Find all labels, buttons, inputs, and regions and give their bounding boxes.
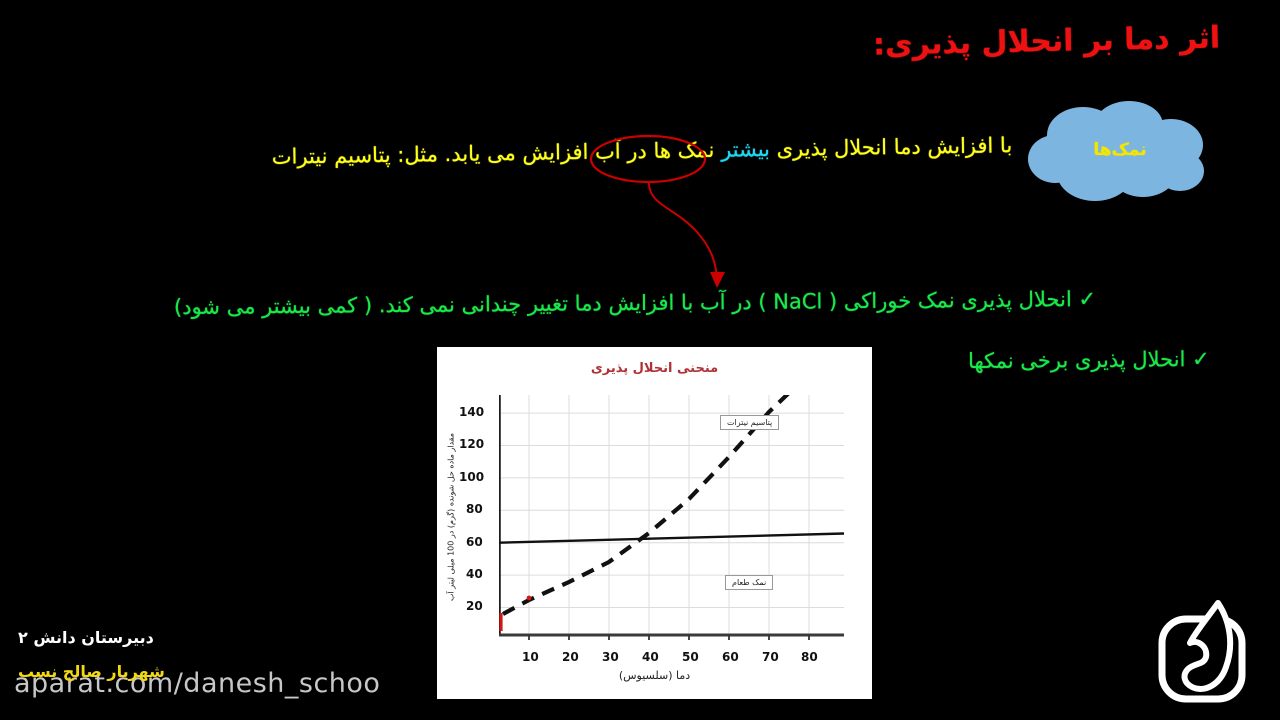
bullet-marker-1: ✓	[1078, 287, 1096, 311]
bullet-text-1: انحلال پذیری نمک خوراکی ( NaCl ) در آب ب…	[174, 287, 1072, 319]
chart-xtick-40: 40	[642, 650, 659, 664]
chart-ytick-80: 80	[466, 502, 483, 516]
chart-xtick-50: 50	[682, 650, 699, 664]
yellow-note-part-right: با افزایش دما انحلال پذیری	[776, 133, 1012, 161]
aparat-logo-icon	[1148, 595, 1258, 710]
page-title: اثر دما بر انحلال پذیری:	[873, 20, 1221, 62]
bullet-marker-2: ✓	[1192, 347, 1210, 371]
bullet-line-2: ✓ انحلال پذیری برخی نمکها	[968, 347, 1210, 373]
yellow-note-part-mid: نمک ها	[653, 138, 714, 163]
bullet-text-2: انحلال پذیری برخی نمکها	[968, 347, 1186, 373]
chart-xtick-10: 10	[522, 650, 539, 664]
yellow-note-part-left: در آب افزایش می یابد. مثل: پتاسیم نیترات	[272, 139, 647, 169]
chart-xtick-20: 20	[562, 650, 579, 664]
red-arrowhead-icon	[710, 272, 725, 288]
chart-legend-table-salt: نمک طعام	[725, 575, 773, 590]
chart-title: منحنی انحلال پذیری	[437, 361, 872, 376]
bullet-line-1: ✓ انحلال پذیری نمک خوراکی ( NaCl ) در آب…	[60, 286, 1210, 320]
chart-xtick-80: 80	[801, 650, 818, 664]
series-table-salt	[499, 534, 844, 543]
credit-school: دبیرستان دانش ۲	[18, 628, 154, 647]
marked-point-1	[527, 596, 532, 601]
chart-ytick-60: 60	[466, 535, 483, 549]
chart-xtick-70: 70	[762, 650, 779, 664]
chart-y-axis-label: مقدار ماده حل شونده (گرم) در 100 میلی لی…	[443, 395, 459, 640]
chart-xtick-60: 60	[722, 650, 739, 664]
slide-canvas: اثر دما بر انحلال پذیری: نمک‌ها با افزای…	[0, 0, 1280, 720]
chart-svg	[499, 395, 844, 640]
chart-xtick-30: 30	[602, 650, 619, 664]
chart-ytick-40: 40	[466, 567, 483, 581]
chart-ytick-100: 100	[459, 470, 484, 484]
chart-ytick-120: 120	[459, 437, 484, 451]
chart-x-axis-label: دما (سلسیوس)	[437, 669, 872, 682]
credit-teacher: شهریار صالح نسب	[18, 662, 165, 681]
solubility-chart-image: منحنی انحلال پذیری مقدار ماده حل شونده (…	[437, 347, 872, 699]
chart-ytick-20: 20	[466, 599, 483, 613]
yellow-note-highlight: بیشتر	[721, 137, 770, 162]
chart-plot-area	[499, 395, 844, 640]
red-arrow-annotation	[649, 182, 717, 276]
chart-legend-potassium-nitrate: پتاسیم نیترات	[720, 415, 779, 430]
chart-ytick-140: 140	[459, 405, 484, 419]
